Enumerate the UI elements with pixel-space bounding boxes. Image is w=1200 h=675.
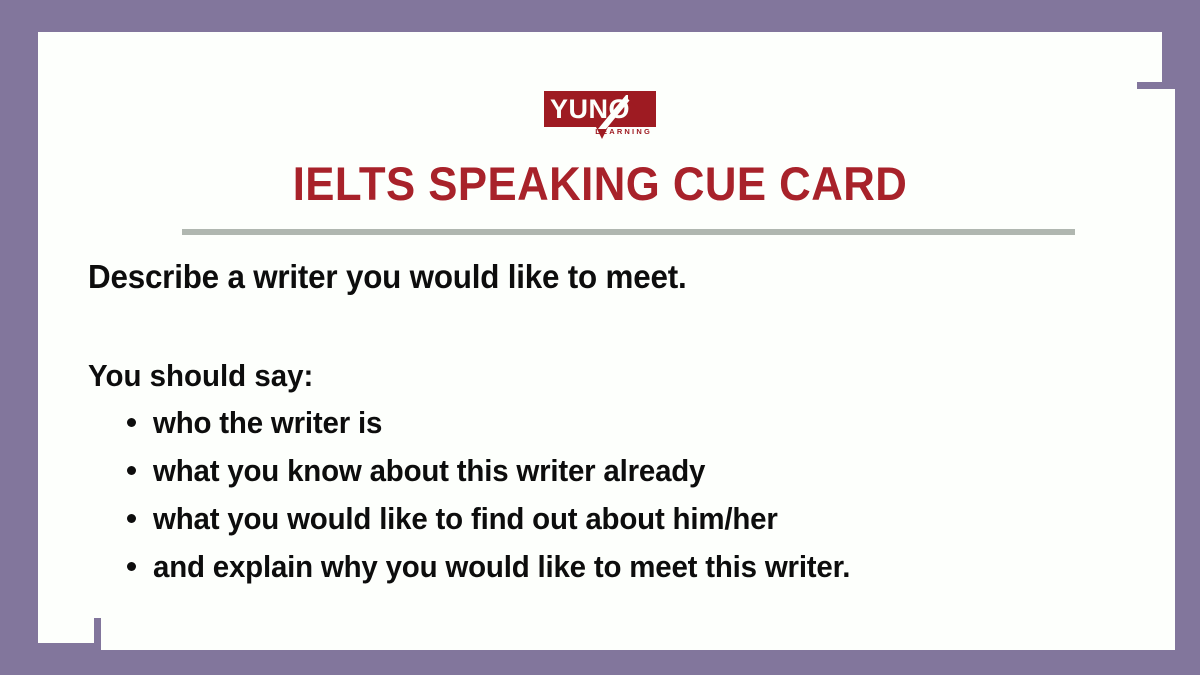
list-item-label: what you know about this writer already <box>153 447 705 495</box>
page-title: IELTS SPEAKING CUE CARD <box>101 157 1100 211</box>
cue-card-instruction: You should say: <box>88 357 1057 395</box>
bullet-dot-icon <box>127 466 136 475</box>
bullet-dot-icon <box>127 562 136 571</box>
list-item-label: what you would like to find out about hi… <box>153 495 778 543</box>
logo-block: YUNO LEARNING <box>63 91 1137 143</box>
list-item-label: and explain why you would like to meet t… <box>153 543 850 591</box>
bullet-dot-icon <box>127 418 136 427</box>
logo: YUNO LEARNING <box>544 91 656 143</box>
title-divider <box>182 229 1075 235</box>
list-item: who the writer is <box>153 399 1153 447</box>
card-outer-frame: YUNO LEARNING IELTS SPEAKING CUE CARD De… <box>0 0 1200 675</box>
cue-card-bullet-list: who the writer is what you know about th… <box>111 399 1153 591</box>
list-item: what you would like to find out about hi… <box>153 495 1153 543</box>
list-item-label: who the writer is <box>153 399 382 447</box>
bullet-dot-icon <box>127 514 136 523</box>
logo-subtext: LEARNING <box>544 127 656 136</box>
list-item: what you know about this writer already <box>153 447 1153 495</box>
cue-card-prompt: Describe a writer you would like to meet… <box>88 257 1057 297</box>
card-content-area: YUNO LEARNING IELTS SPEAKING CUE CARD De… <box>63 57 1137 618</box>
list-item: and explain why you would like to meet t… <box>153 543 1153 591</box>
